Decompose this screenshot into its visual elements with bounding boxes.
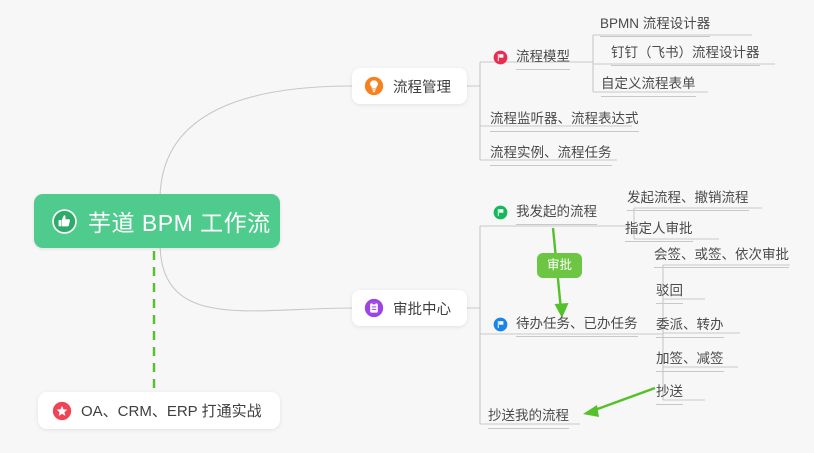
leaf-dingtalk-feishu-designer[interactable]: 钉钉（飞书）流程设计器 — [611, 41, 760, 71]
leaf-label: 发起流程、撤销流程 — [627, 186, 749, 211]
flag-icon — [493, 205, 508, 220]
wire-root-to-shenpi — [160, 242, 352, 311]
wire-root-to-liucheng — [160, 86, 352, 200]
root-label: 芋道 BPM 工作流 — [88, 204, 271, 238]
branch-node-process-management[interactable]: 流程管理 — [352, 68, 467, 104]
leaf-process-listener-expression[interactable]: 流程监听器、流程表达式 — [490, 107, 639, 137]
leaf-bpmn-designer[interactable]: BPMN 流程设计器 — [600, 12, 710, 42]
leaf-label: BPMN 流程设计器 — [600, 12, 710, 37]
leaf-label: 驳回 — [656, 279, 683, 304]
leaf-label: 委派、转办 — [656, 313, 724, 338]
leaf-countersign-orsign-sequential[interactable]: 会签、或签、依次审批 — [654, 243, 789, 273]
branch-label: 审批中心 — [393, 298, 451, 319]
leaf-label: 抄送我的流程 — [488, 404, 569, 429]
star-icon — [52, 401, 72, 421]
leaf-custom-process-form[interactable]: 自定义流程表单 — [601, 72, 696, 102]
leaf-cc-to-me-processes[interactable]: 抄送我的流程 — [488, 404, 569, 434]
leaf-label: 指定人审批 — [625, 217, 693, 242]
node-todo-done-tasks[interactable]: 待办任务、已办任务 — [493, 312, 638, 342]
leaf-label: 流程监听器、流程表达式 — [490, 107, 639, 132]
node-label: 流程模型 — [516, 45, 570, 70]
footer-node-oa-crm-erp[interactable]: OA、CRM、ERP 打通实战 — [38, 392, 280, 429]
root-node[interactable]: 芋道 BPM 工作流 — [34, 194, 280, 248]
leaf-start-cancel-process[interactable]: 发起流程、撤销流程 — [627, 186, 749, 216]
mindmap-canvas: 芋道 BPM 工作流 流程管理 流程模型 BPMN 流程设计器 钉钉（飞书）流程 — [0, 0, 814, 453]
clipboard-icon — [364, 298, 384, 318]
annotation-badge-approval: 审批 — [537, 253, 582, 278]
node-label: 待办任务、已办任务 — [516, 312, 638, 337]
leaf-label: 钉钉（飞书）流程设计器 — [611, 41, 760, 66]
node-label: 我发起的流程 — [516, 200, 597, 225]
leaf-label: 抄送 — [656, 380, 683, 405]
leaf-delegate-transfer[interactable]: 委派、转办 — [656, 313, 724, 343]
flag-icon — [493, 50, 508, 65]
leaf-process-instance-task[interactable]: 流程实例、流程任务 — [490, 141, 612, 171]
arrow-cc-to-ccmine — [592, 388, 655, 411]
flag-icon — [493, 317, 508, 332]
footer-node-label: OA、CRM、ERP 打通实战 — [81, 400, 262, 421]
leaf-label: 会签、或签、依次审批 — [654, 243, 789, 268]
leaf-label: 流程实例、流程任务 — [490, 141, 612, 166]
branch-node-approval-center[interactable]: 审批中心 — [352, 290, 467, 326]
leaf-carbon-copy[interactable]: 抄送 — [656, 380, 683, 410]
thumbs-up-icon — [52, 209, 77, 234]
lightbulb-icon — [364, 76, 384, 96]
node-my-started-processes[interactable]: 我发起的流程 — [493, 200, 597, 230]
leaf-reject[interactable]: 驳回 — [656, 279, 683, 309]
node-process-model[interactable]: 流程模型 — [493, 45, 570, 75]
leaf-add-remove-sign[interactable]: 加签、减签 — [656, 347, 724, 377]
branch-label: 流程管理 — [393, 76, 451, 97]
leaf-label: 加签、减签 — [656, 347, 724, 372]
arrow-cc-to-ccmine-head — [583, 405, 599, 417]
leaf-label: 自定义流程表单 — [601, 72, 696, 97]
